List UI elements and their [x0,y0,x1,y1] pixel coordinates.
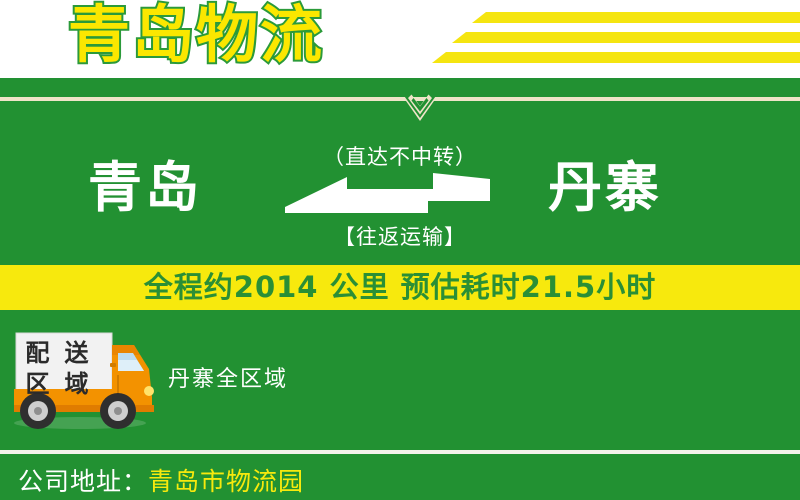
footer-address: 公司地址：青岛市物流园 [18,462,304,498]
route-note-roundtrip: 【往返运输】 [288,221,512,251]
route-note-direct: （直达不中转） [288,141,512,171]
route-section: 青岛 （直达不中转） 【往返运输】 丹寨 [0,135,800,260]
distance-duration-text: 全程约2014 公里 预估耗时21.5小时 [0,265,800,310]
stripe-2 [452,32,800,43]
delivery-area-text: 丹寨全区域 [168,361,288,393]
origin-city: 青岛 [88,153,202,223]
delivery-truck-icon [6,327,158,435]
destination-city: 丹寨 [548,153,662,223]
footer-address-value: 青岛市物流园 [148,467,304,496]
brand-title: 青岛物流 [68,0,324,74]
stripe-3 [432,52,800,63]
footer-address-label: 公司地址： [18,467,148,496]
logistics-banner: 青岛物流 青岛 （直达不中转） 【往返运输】 丹寨 全程约2014 公里 预估耗… [0,0,800,500]
decorative-stripes [430,10,800,70]
double-chevron-down-icon [368,92,473,126]
stripe-1 [472,12,800,23]
footer-divider [0,450,800,454]
bidirectional-arrow-icon [285,173,490,218]
delivery-section: 配 送 区 域 丹寨全区域 [0,325,800,435]
